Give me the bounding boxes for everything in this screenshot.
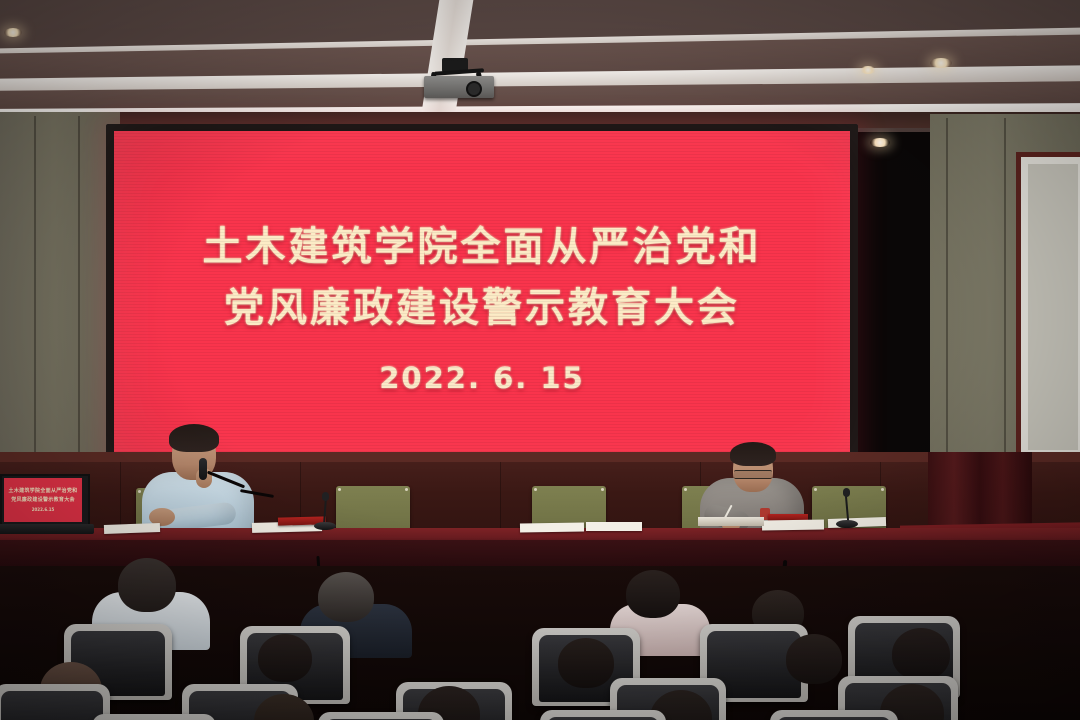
banner-title: 土木建筑学院全面从严治党和 党风廉政建设警示教育大会 bbox=[114, 217, 850, 339]
wainscot-top-rail bbox=[0, 452, 1080, 462]
downlight-icon bbox=[870, 138, 890, 147]
seat-cushion bbox=[1, 691, 103, 720]
conference-room-photo: 土木建筑学院全面从严治党和 党风廉政建设警示教育大会 2022. 6. 15 bbox=[0, 0, 1080, 720]
microphone-base bbox=[314, 522, 336, 530]
notebook bbox=[698, 517, 764, 526]
wall-seam bbox=[1004, 118, 1006, 458]
microphone-head bbox=[843, 488, 850, 497]
eyeglasses-icon bbox=[734, 470, 772, 479]
audience-area bbox=[0, 566, 1080, 720]
auditorium-seat[interactable] bbox=[770, 710, 898, 720]
paper-sheet bbox=[762, 519, 824, 530]
auditorium-seat[interactable] bbox=[92, 714, 216, 720]
microphone-base bbox=[836, 520, 858, 528]
wall-seam bbox=[78, 116, 80, 468]
laptop-screen: 土木建筑学院全面从严治党和 党风廉政建设警示教育大会 2022.6.15 bbox=[4, 478, 82, 522]
speaker-left-hair bbox=[169, 424, 219, 452]
audience-head bbox=[786, 634, 842, 684]
auditorium-seat[interactable] bbox=[540, 710, 666, 720]
audience-head bbox=[558, 638, 614, 688]
wall-framed-panel bbox=[1016, 152, 1080, 462]
speaker-right-hair bbox=[730, 442, 776, 466]
projector-body bbox=[424, 76, 494, 98]
audience-head bbox=[318, 572, 374, 622]
banner-title-line-2: 党风廉政建设警示教育大会 bbox=[114, 278, 850, 339]
paper-sheet bbox=[520, 522, 584, 532]
audience-head bbox=[626, 570, 680, 618]
audience-head bbox=[118, 558, 176, 612]
banner-title-line-1: 土木建筑学院全面从严治党和 bbox=[114, 217, 850, 278]
led-banner-screen: 土木建筑学院全面从严治党和 党风廉政建设警示教育大会 2022. 6. 15 bbox=[114, 131, 850, 467]
laptop-line-2: 党风廉政建设警示教育大会 bbox=[4, 496, 82, 505]
ceiling-projector bbox=[416, 58, 500, 100]
paper-sheet bbox=[586, 522, 642, 531]
laptop-screen-text: 土木建筑学院全面从严治党和 党风廉政建设警示教育大会 bbox=[4, 487, 82, 504]
laptop-line-1: 土木建筑学院全面从严治党和 bbox=[4, 487, 82, 496]
left-wall bbox=[0, 112, 120, 472]
head-table-chair bbox=[336, 486, 410, 534]
projector-lens-icon bbox=[466, 81, 482, 97]
downlight-icon bbox=[4, 28, 22, 37]
wall-seam bbox=[946, 118, 948, 458]
audience-head bbox=[892, 628, 950, 680]
auditorium-seat[interactable] bbox=[318, 712, 444, 720]
downlight-icon bbox=[930, 58, 952, 68]
auditorium-seat[interactable] bbox=[0, 684, 110, 720]
audience-head bbox=[258, 634, 312, 682]
banner-date: 2022. 6. 15 bbox=[114, 361, 850, 395]
downlight-icon bbox=[860, 66, 876, 74]
wall-seam bbox=[34, 116, 36, 468]
handheld-microphone bbox=[199, 458, 207, 480]
microphone-head bbox=[322, 492, 329, 501]
laptop-base bbox=[0, 524, 94, 534]
laptop-date: 2022.6.15 bbox=[4, 507, 82, 512]
